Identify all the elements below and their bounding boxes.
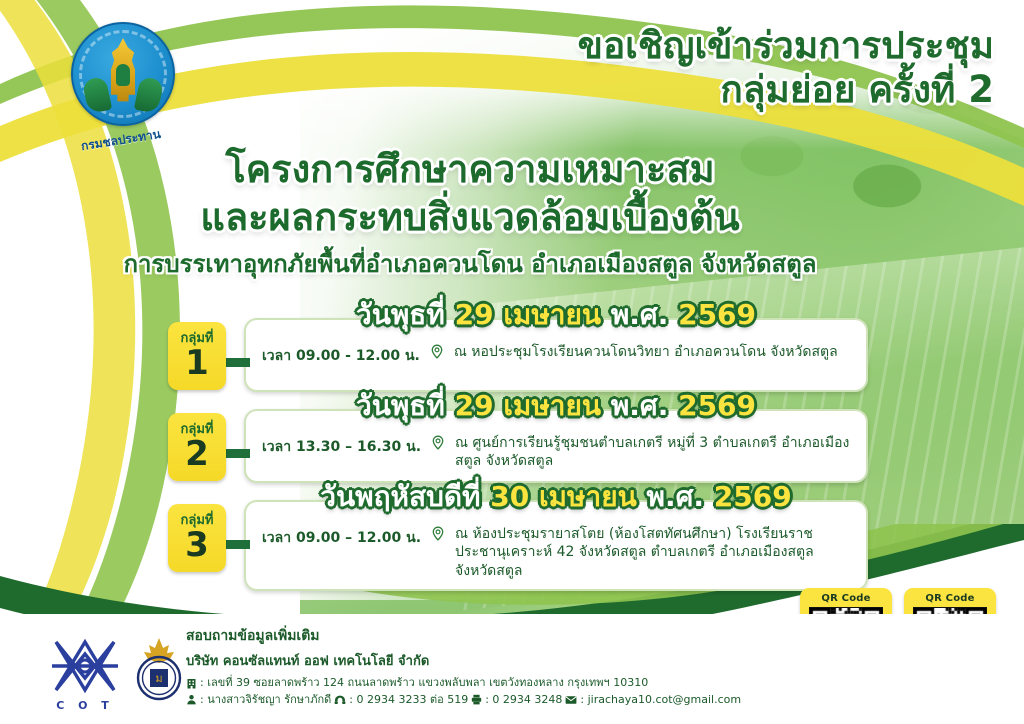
contact-address: : เลขที่ 39 ซอยลาดพร้าว 124 ถนนลาดพร้าว … [200,675,648,692]
seal-deity-icon [116,64,130,86]
group-date-prefix: วันพุธที่ [356,389,445,422]
group-connector [224,540,250,549]
group-date-2: วันพุธที่ 29 เมษายน พ.ศ. 2569 [246,392,866,420]
group-connector [224,358,250,367]
fax-icon [471,694,482,705]
contact-email: : jirachaya10.cot@gmail.com [580,692,741,709]
project-title-line-1: โครงการศึกษาความเหมาะสม [0,146,940,194]
group-venue-2: ณ ศูนย์การเรียนรู้ชุมชนตำบลเกตรี หมู่ที่… [455,434,850,471]
qr-title-1: QR Code [805,593,887,604]
contact-person-line: : นางสาวจิรัชญา รักษาภักดี : 0 2934 3233… [186,692,846,709]
group-date-prefix: วันพุธที่ [356,298,445,331]
group-date-month: เมษายน [539,480,637,513]
group-date-year: 2569 [714,480,792,513]
group-date-day: 29 [455,298,494,331]
meeting-group-row: กลุ่มที่ 1 วันพุธที่ 29 เมษายน พ.ศ. 2569… [168,318,868,392]
group-badge-1: กลุ่มที่ 1 [168,322,226,390]
location-pin-icon [429,343,445,366]
meeting-groups-list: กลุ่มที่ 1 วันพุธที่ 29 เมษายน พ.ศ. 2569… [168,318,868,608]
group-date-era: พ.ศ. [611,389,669,422]
group-date-prefix: วันพฤหัสบดีที่ [320,480,480,513]
contact-heading: สอบถามข้อมูลเพิ่มเติม [186,625,846,647]
group-body-3: เวลา 09.00 – 12.00 น. ณ ห้องประชุมรายาสโ… [262,525,850,580]
group-date-era: พ.ศ. [647,480,705,513]
group-venue-1: ณ หอประชุมโรงเรียนควนโดนวิทยา อำเภอควนโด… [454,343,838,361]
location-pin-icon [430,434,446,457]
poster-root: กรมชลประทาน ขอเชิญเข้าร่วมการประชุม กลุ่… [0,0,1024,724]
svg-text:ม: ม [155,672,162,685]
contact-phone: : 0 2934 3233 ต่อ 519 [349,692,468,709]
group-time-2: เวลา 13.30 – 16.30 น. [262,434,421,458]
group-badge-2: กลุ่มที่ 2 [168,413,226,481]
group-badge-number: 1 [185,347,209,380]
group-connector [224,449,250,458]
group-body-1: เวลา 09.00 - 12.00 น. ณ หอประชุมโรงเรียน… [262,343,850,367]
group-badge-3: กลุ่มที่ 3 [168,504,226,572]
group-date-day: 30 [490,480,529,513]
footer: C O T ม สอบถามข้อมูลเพิ่มเติม บริษัท คอน… [0,614,1024,724]
group-badge-number: 2 [185,438,209,471]
meeting-group-row: กลุ่มที่ 2 วันพุธที่ 29 เมษายน พ.ศ. 2569… [168,409,868,483]
cot-logo [48,638,122,700]
group-date-3: วันพฤหัสบดีที่ 30 เมษายน พ.ศ. 2569 [246,483,866,511]
group-date-year: 2569 [678,298,756,331]
group-date-era: พ.ศ. [611,298,669,331]
location-pin-icon [430,525,446,548]
seal-disc [71,22,175,126]
qr-title-2: QR Code [909,593,991,604]
group-time-1: เวลา 09.00 - 12.00 น. [262,343,420,367]
group-date-year: 2569 [678,389,756,422]
contact-person: : นางสาวจิรัชญา รักษาภักดี [200,692,331,709]
group-date-1: วันพุธที่ 29 เมษายน พ.ศ. 2569 [246,301,866,329]
cot-logo-text: C O T [48,699,122,712]
psu-logo: ม [128,636,190,702]
group-date-month: เมษายน [503,298,601,331]
header-invitation: ขอเชิญเข้าร่วมการประชุม กลุ่มย่อย ครั้งท… [474,24,994,111]
group-time-3: เวลา 09.00 – 12.00 น. [262,525,421,549]
header-line-2: กลุ่มย่อย ครั้งที่ 2 [474,68,994,112]
project-title-block: โครงการศึกษาความเหมาะสม และผลกระทบสิ่งแว… [0,146,940,280]
group-card-2: วันพุธที่ 29 เมษายน พ.ศ. 2569 เวลา 13.30… [244,409,868,483]
person-icon [186,694,197,705]
contact-address-line: : เลขที่ 39 ซอยลาดพร้าว 124 ถนนลาดพร้าว … [186,675,846,692]
phone-icon [334,694,346,705]
group-body-2: เวลา 13.30 – 16.30 น. ณ ศูนย์การเรียนรู้… [262,434,850,471]
building-icon [186,678,197,689]
project-title-line-2: และผลกระทบสิ่งแวดล้อมเบื้องต้น [0,194,940,242]
header-line-1: ขอเชิญเข้าร่วมการประชุม [474,24,994,68]
group-badge-number: 3 [185,529,209,562]
meeting-group-row: กลุ่มที่ 3 วันพฤหัสบดีที่ 30 เมษายน พ.ศ.… [168,500,868,591]
group-card-3: วันพฤหัสบดีที่ 30 เมษายน พ.ศ. 2569 เวลา … [244,500,868,591]
group-card-1: วันพุธที่ 29 เมษายน พ.ศ. 2569 เวลา 09.00… [244,318,868,392]
group-date-day: 29 [455,389,494,422]
contact-fax: : 0 2934 3248 [485,692,562,709]
project-subtitle: การบรรเทาอุทกภัยพื้นที่อำเภอควนโดน อำเภอ… [0,249,940,280]
group-date-month: เมษายน [503,389,601,422]
contact-block: สอบถามข้อมูลเพิ่มเติม บริษัท คอนซัลแทนท์… [186,625,846,708]
royal-irrigation-department-seal: กรมชลประทาน [62,22,180,150]
contact-company: บริษัท คอนซัลแทนท์ ออฟ เทคโนโลยี จำกัด [186,650,846,671]
group-venue-3: ณ ห้องประชุมรายาสโตย (ห้องโสตทัศนศึกษา) … [455,525,850,580]
email-icon [565,695,577,705]
